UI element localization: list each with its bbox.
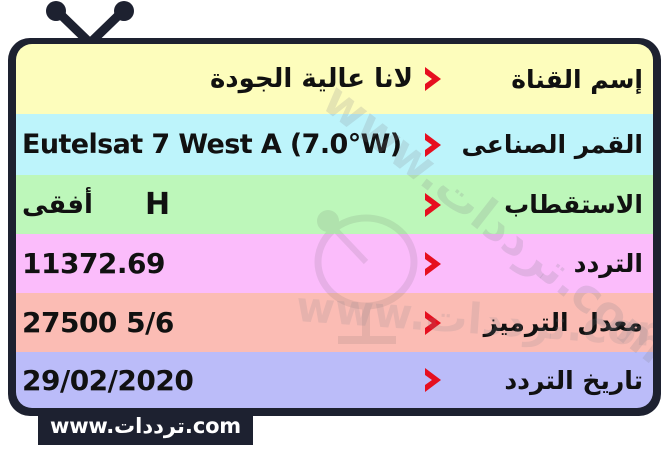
chevron-right-icon (417, 308, 451, 338)
table-row-frequency-date: تاريخ التردد29/02/2020 (16, 352, 653, 408)
row-value-polarization: أفقىH (22, 187, 417, 222)
row-value-frequency-date: 29/02/2020 (22, 364, 417, 397)
table-row-polarization: الاستقطابأفقىH (16, 175, 653, 234)
row-label-symbol-rate: معدل الترميز (451, 308, 649, 337)
chevron-right-icon (417, 64, 451, 94)
table-row-satellite: القمر الصناعىEutelsat 7 West A (7.0°W) (16, 114, 653, 175)
chevron-right-icon (417, 130, 451, 160)
table-row-channel-name: إسم القناةلانا عالية الجودة (16, 44, 653, 114)
row-value-symbol-rate: 27500 5/6 (22, 306, 417, 339)
tv-screen: إسم القناةلانا عالية الجودةالقمر الصناعى… (16, 44, 653, 408)
chevron-right-icon (417, 190, 451, 220)
info-table: إسم القناةلانا عالية الجودةالقمر الصناعى… (16, 44, 653, 408)
chevron-right-icon (417, 249, 451, 279)
row-value-polarization-ar: أفقى (22, 190, 93, 220)
site-tag: www.ترددات.com (38, 408, 253, 445)
row-label-frequency-date: تاريخ التردد (451, 366, 649, 395)
table-row-symbol-rate: معدل الترميز27500 5/6 (16, 293, 653, 352)
tv-frame: إسم القناةلانا عالية الجودةالقمر الصناعى… (8, 38, 661, 416)
table-row-frequency: التردد11372.69 (16, 234, 653, 293)
satellite-frequency-card: إسم القناةلانا عالية الجودةالقمر الصناعى… (0, 0, 669, 451)
row-value-frequency: 11372.69 (22, 247, 417, 280)
row-label-channel-name: إسم القناة (451, 65, 649, 94)
row-value-polarization-code: H (145, 187, 170, 222)
row-label-frequency: التردد (451, 249, 649, 278)
row-label-polarization: الاستقطاب (451, 190, 649, 219)
chevron-right-icon (417, 365, 451, 395)
row-value-satellite: Eutelsat 7 West A (7.0°W) (22, 129, 417, 160)
row-label-satellite: القمر الصناعى (451, 130, 649, 159)
row-value-channel-name: لانا عالية الجودة (22, 64, 417, 94)
